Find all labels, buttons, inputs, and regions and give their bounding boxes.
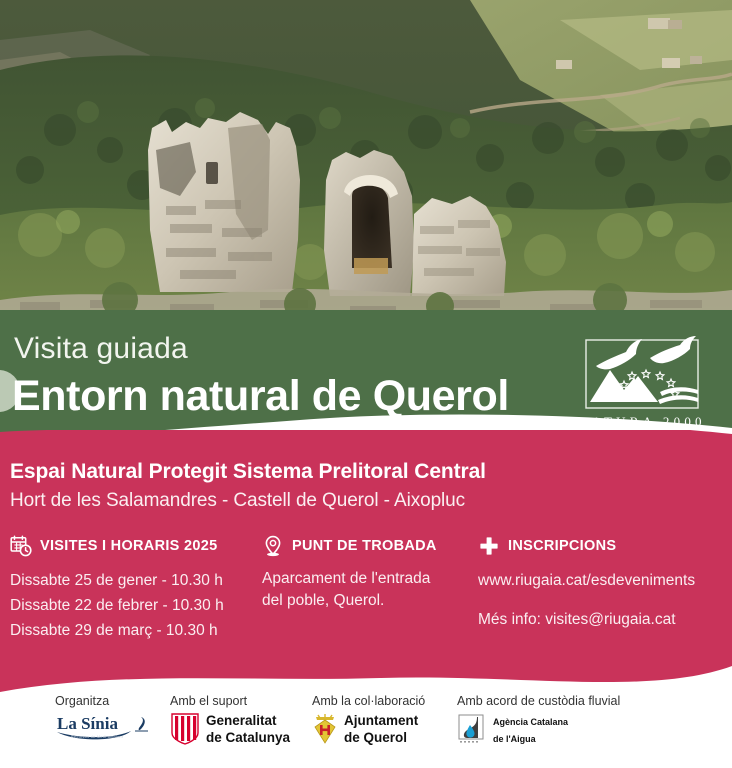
ajuntament-de-querol-logo: Ajuntament de Querol xyxy=(312,712,425,746)
page-title: Entorn natural de Querol xyxy=(12,372,509,421)
aca-line-2: de l'Aigua xyxy=(493,734,536,744)
column-meeting-point: PUNT DE TROBADA Aparcament de l'entrada … xyxy=(262,534,472,612)
svg-text:Recursos de Medi ambient: Recursos de Medi ambient xyxy=(71,735,123,739)
plus-icon xyxy=(478,535,500,557)
poster-root: Visita guiada Entorn natural de Querol xyxy=(0,0,732,768)
meeting-point-line-2: del poble, Querol. xyxy=(262,590,472,612)
natura-2000-logo-graphic: NATURA 2000 xyxy=(572,336,712,434)
meeting-point-line-1: Aparcament de l'entrada xyxy=(262,568,472,590)
registration-spacer xyxy=(478,593,728,607)
registration-url[interactable]: www.riugaia.cat/esdeveniments xyxy=(478,568,728,593)
aca-logo-text: Agència Catalana de l'Aigua xyxy=(493,712,568,747)
plus-icon-glyph xyxy=(478,535,500,557)
column-visits-schedule: VISITES I HORARIS 2025 Dissabte 25 de ge… xyxy=(10,534,260,643)
hero-photo-illustration xyxy=(0,0,732,320)
hero-photo xyxy=(0,0,732,320)
footer-caption-organizer: Organitza xyxy=(55,694,159,708)
column-visits-title: VISITES I HORARIS 2025 xyxy=(40,538,217,554)
location-pin-icon-glyph xyxy=(262,535,284,557)
footer-caption-collaboration: Amb la col·laboració xyxy=(312,694,425,708)
protected-area-heading: Espai Natural Protegit Sistema Prelitora… xyxy=(10,460,486,484)
agencia-catalana-de-laigua-logo: Agència Catalana de l'Aigua xyxy=(457,712,620,746)
column-meeting-title: PUNT DE TROBADA xyxy=(292,538,437,554)
eyebrow-text: Visita guiada xyxy=(14,332,188,366)
svg-text:La Sínia: La Sínia xyxy=(57,714,118,733)
generalitat-de-catalunya-logo: Generalitat de Catalunya xyxy=(170,712,290,746)
footer-block-organizer: Organitza La Sínia Recursos de Medi ambi… xyxy=(55,694,159,746)
column-registration-header: INSCRIPCIONS xyxy=(478,534,728,558)
footer-caption-custody: Amb acord de custòdia fluvial xyxy=(457,694,620,708)
natura-2000-logo-caption: NATURA 2000 xyxy=(578,414,705,429)
column-visits-header: VISITES I HORARIS 2025 xyxy=(10,534,260,558)
visit-date-2: Dissabte 22 de febrer - 10.30 h xyxy=(10,593,260,618)
la-sinia-logo: La Sínia Recursos de Medi ambient xyxy=(55,712,159,746)
ajuntament-line-1: Ajuntament xyxy=(344,713,418,728)
location-pin-icon xyxy=(262,535,284,557)
ajuntament-logo-text: Ajuntament de Querol xyxy=(344,712,418,747)
generalitat-logo-text: Generalitat de Catalunya xyxy=(206,712,290,747)
generalitat-line-1: Generalitat xyxy=(206,713,277,728)
pink-info-band: Espai Natural Protegit Sistema Prelitora… xyxy=(0,430,732,700)
calendar-clock-icon-glyph xyxy=(10,535,32,557)
column-registration: INSCRIPCIONS www.riugaia.cat/esdevenimen… xyxy=(478,534,728,632)
visit-date-3: Dissabte 29 de març - 10.30 h xyxy=(10,618,260,643)
column-meeting-header: PUNT DE TROBADA xyxy=(262,534,472,558)
footer-block-custody: Amb acord de custòdia fluvial Agènci xyxy=(457,694,620,746)
aca-line-1: Agència Catalana xyxy=(493,717,568,727)
calendar-clock-icon xyxy=(10,535,32,557)
visit-date-1: Dissabte 25 de gener - 10.30 h xyxy=(10,568,260,593)
footer-block-support: Amb el suport Generalitat de Catalunya xyxy=(170,694,290,746)
castle-tower-ruin xyxy=(148,112,300,292)
footer-caption-support: Amb el suport xyxy=(170,694,290,708)
ajuntament-line-2: de Querol xyxy=(344,730,407,745)
la-sinia-logo-graphic: La Sínia Recursos de Medi ambient xyxy=(55,711,159,747)
registration-email[interactable]: Més info: visites@riugaia.cat xyxy=(478,607,728,632)
footer-sponsors: Organitza La Sínia Recursos de Medi ambi… xyxy=(0,694,732,768)
footer-block-collaboration: Amb la col·laboració Ajuntament de Quero… xyxy=(312,694,425,746)
generalitat-shield-icon xyxy=(170,713,200,745)
natura-2000-logo: NATURA 2000 xyxy=(572,336,712,434)
querol-coat-of-arms-icon xyxy=(312,713,338,745)
generalitat-line-2: de Catalunya xyxy=(206,730,290,745)
column-registration-title: INSCRIPCIONS xyxy=(508,538,616,554)
aca-water-icon xyxy=(457,713,487,745)
protected-area-subheading: Hort de les Salamandres - Castell de Que… xyxy=(10,490,465,512)
